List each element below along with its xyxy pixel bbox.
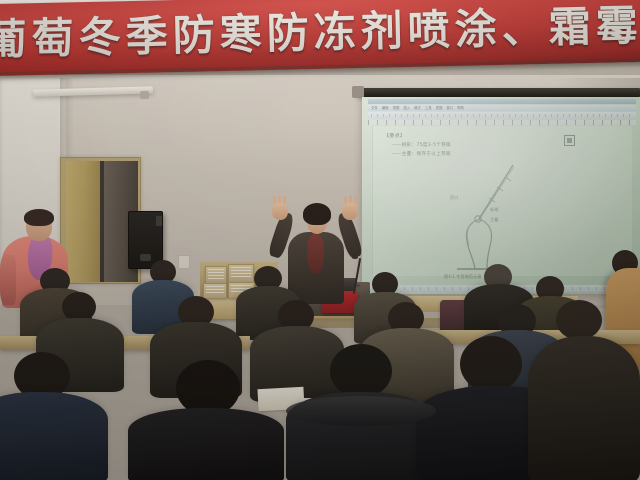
sample-box	[205, 266, 227, 284]
woman-hair	[24, 209, 54, 226]
lecturer-scarf	[307, 234, 324, 274]
finger	[278, 195, 281, 203]
sample-box	[203, 283, 227, 299]
lecturer-right-hand	[342, 202, 358, 220]
lecturer-left-hand	[272, 202, 288, 220]
ceiling-lamp-endcap	[140, 91, 149, 99]
attendee-body	[528, 336, 640, 480]
projector-screen-housing	[358, 88, 640, 97]
speaker-bracket	[156, 216, 162, 226]
woman-arm	[0, 255, 16, 305]
wall-socket-plate	[178, 255, 190, 269]
wooden-door[interactable]	[66, 161, 100, 282]
attendee-head	[330, 344, 392, 398]
attendee-head	[556, 300, 602, 340]
photo-scene: 葡萄冬季防寒防冻剂喷涂、霜霉病综合防控、 文件 编辑 视图 插入 格式 工具 表…	[0, 0, 640, 480]
attendee-body	[128, 408, 284, 480]
speaker-cone-icon	[140, 254, 151, 261]
attendee-head	[460, 336, 522, 392]
lecturer-hair	[303, 203, 331, 225]
fur-collar	[286, 396, 436, 426]
sample-box	[228, 264, 254, 283]
attendee-body	[0, 392, 108, 480]
finger	[349, 195, 352, 203]
